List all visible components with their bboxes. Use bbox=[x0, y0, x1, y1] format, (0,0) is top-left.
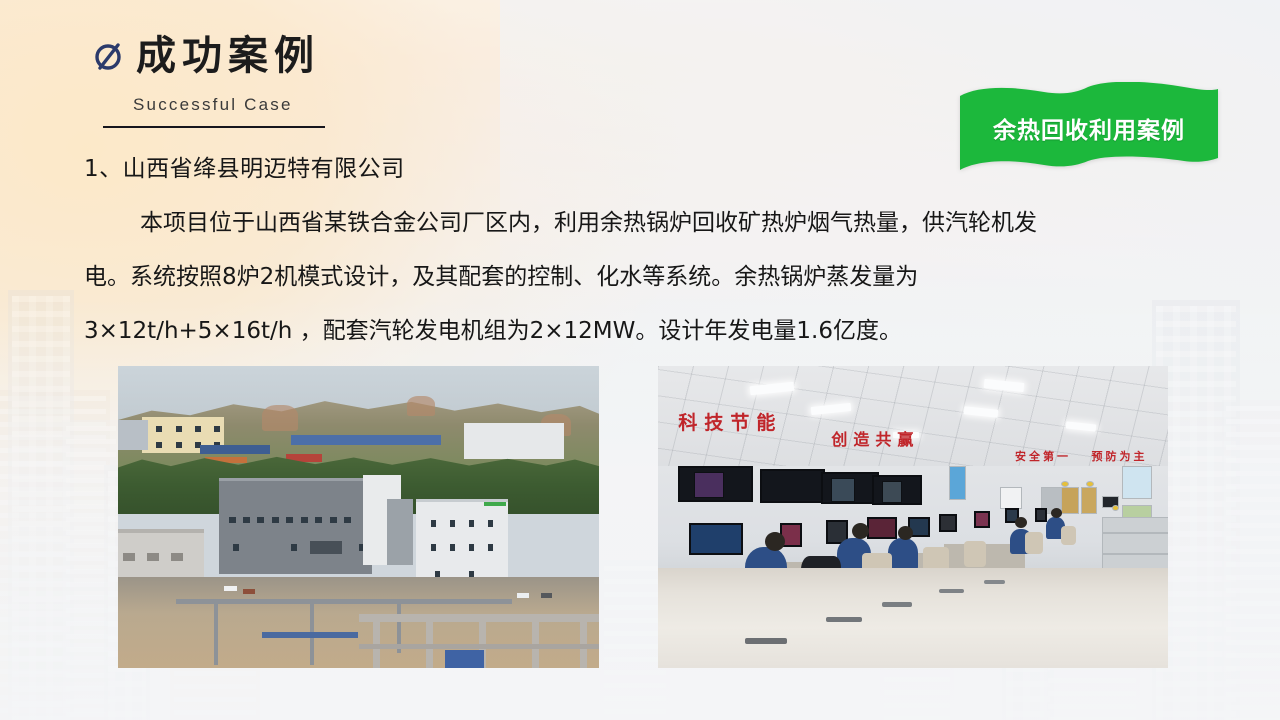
plant-exterior-photo bbox=[118, 366, 599, 668]
page-subtitle: Successful Case bbox=[133, 95, 293, 115]
body-line-1: 本项目位于山西省某铁合金公司厂区内，利用余热锅炉回收矿热炉烟气热量，供汽轮机发 bbox=[84, 196, 1196, 250]
wall-slogan-3: 安全第一 bbox=[1015, 448, 1071, 464]
wall-slogan-1: 科技节能 bbox=[678, 408, 782, 435]
body-line-3: 3×12t/h+5×16t/h ，配套汽轮发电机组为2×12MW。设计年发电量1… bbox=[84, 304, 1196, 358]
body-text: 1、山西省绛县明迈特有限公司 本项目位于山西省某铁合金公司厂区内，利用余热锅炉回… bbox=[84, 142, 1196, 358]
control-room-photo: 科技节能 创造共赢 安全第一 预防为主 bbox=[658, 366, 1168, 668]
title-divider bbox=[103, 126, 325, 128]
body-line-2: 电。系统按照8炉2机模式设计，及其配套的控制、化水等系统。余热锅炉蒸发量为 bbox=[84, 250, 1196, 304]
wall-slogan-4: 预防为主 bbox=[1092, 448, 1148, 464]
page-title-text: 成功案例 bbox=[136, 36, 320, 76]
slide-canvas: 成功案例 Successful Case 余热回收利用案例 1、山西省绛县明迈特… bbox=[0, 0, 1280, 720]
slashed-circle-icon bbox=[92, 39, 126, 73]
body-heading: 1、山西省绛县明迈特有限公司 bbox=[84, 142, 1196, 196]
page-title: 成功案例 bbox=[92, 36, 320, 76]
wall-slogan-2: 创造共赢 bbox=[831, 426, 919, 450]
